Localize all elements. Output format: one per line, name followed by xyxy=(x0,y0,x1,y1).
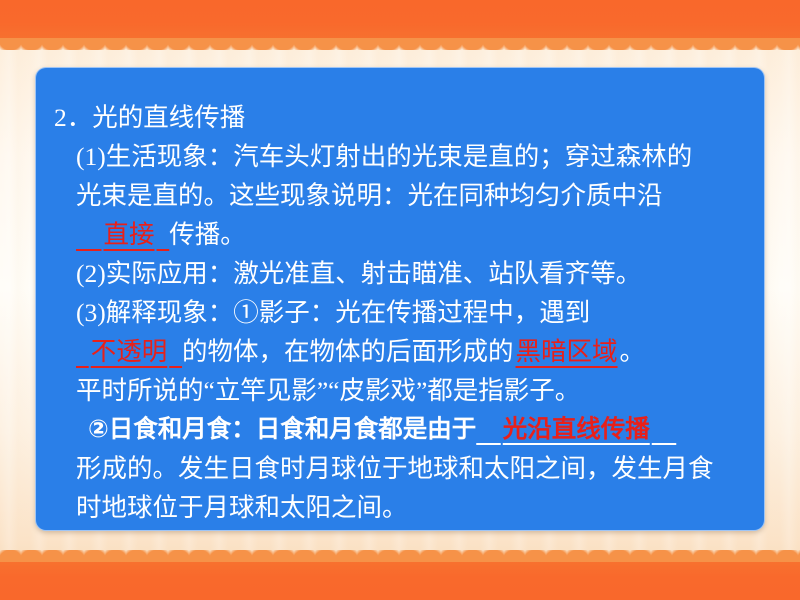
blank-underline-trail-2 xyxy=(169,337,182,366)
blank-underline-lead-1 xyxy=(76,220,102,249)
blank-underline-lead-2 xyxy=(76,337,89,366)
item-3-line-3: 平时所说的“立竿见影”“皮影戏”都是指影子。 xyxy=(54,371,754,410)
item-1-text: 汽车头灯射出的光束是直的；穿过森林的 xyxy=(233,142,692,171)
item-4-line-2: 形成的。发生日食时月球位于地球和太阳之间，发生月食 xyxy=(54,449,754,488)
item-4-line-1: ②日食和月食：日食和月食都是由于 光沿直线传播 xyxy=(54,410,754,449)
item-1-label: (1)生活现象： xyxy=(76,142,233,171)
item-3-shadow-examples: 平时所说的“立竿见影”“皮影戏”都是指影子。 xyxy=(76,376,580,405)
slide-canvas: 2．光的直线传播 (1)生活现象：汽车头灯射出的光束是直的；穿过森林的 光束是直… xyxy=(0,0,800,600)
item-1-line-1: (1)生活现象：汽车头灯射出的光束是直的；穿过森林的 xyxy=(54,137,754,176)
heading-label: 2．光的直线传播 xyxy=(54,103,245,132)
item-3-middle-text: 的物体，在物体的后面形成的 xyxy=(182,337,514,366)
item-4-line-3: 时地球位于月球和太阳之间。 xyxy=(54,488,754,527)
bottom-orange-band xyxy=(0,562,800,600)
item-2-text: (2)实际应用：激光准直、射击瞄准、站队看齐等。 xyxy=(76,259,641,288)
item-1-line-2: 光束是直的。这些现象说明：光在同种均匀介质中沿 xyxy=(54,176,754,215)
answer-blank-butouming: 不透明 xyxy=(89,337,170,366)
content-panel: 2．光的直线传播 (1)生活现象：汽车头灯射出的光束是直的；穿过森林的 光束是直… xyxy=(35,67,765,531)
item-3-line-1: (3)解释现象：①影子：光在传播过程中，遇到 xyxy=(54,293,754,332)
item-2-line: (2)实际应用：激光准直、射击瞄准、站队看齐等。 xyxy=(54,254,754,293)
blank-underline-trail-3 xyxy=(652,416,677,443)
answer-blank-zhijie: 直接 xyxy=(102,220,157,249)
item-3-answer-tail: 。 xyxy=(620,337,646,366)
item-1-answer-tail: 传播。 xyxy=(169,220,246,249)
answer-blank-heianquyu: 黑暗区域 xyxy=(514,337,620,366)
item-1-continuation: 光束是直的。这些现象说明：光在同种均匀介质中沿 xyxy=(76,181,663,210)
heading-line: 2．光的直线传播 xyxy=(54,98,754,137)
top-orange-band xyxy=(0,0,800,38)
answer-blank-guangyanzhixian: 光沿直线传播 xyxy=(501,416,652,443)
item-3-answer-line: 不透明 的物体，在物体的后面形成的黑暗区域。 xyxy=(54,332,754,371)
bottom-scallop-fringe xyxy=(0,550,800,562)
item-4-heading: ②日食和月食：日食和月食都是由于 xyxy=(88,416,476,443)
top-scallop-fringe xyxy=(0,38,800,50)
item-4-explanation-2: 时地球位于月球和太阳之间。 xyxy=(76,493,408,522)
item-1-answer-line: 直接 传播。 xyxy=(54,215,754,254)
slide-body-text: 2．光的直线传播 (1)生活现象：汽车头灯射出的光束是直的；穿过森林的 光束是直… xyxy=(54,98,754,527)
item-4-explanation-1: 形成的。发生日食时月球位于地球和太阳之间，发生月食 xyxy=(76,454,714,483)
blank-underline-trail-1 xyxy=(157,220,170,249)
blank-underline-lead-3 xyxy=(476,416,501,443)
item-3-text: (3)解释现象：①影子：光在传播过程中，遇到 xyxy=(76,298,590,327)
